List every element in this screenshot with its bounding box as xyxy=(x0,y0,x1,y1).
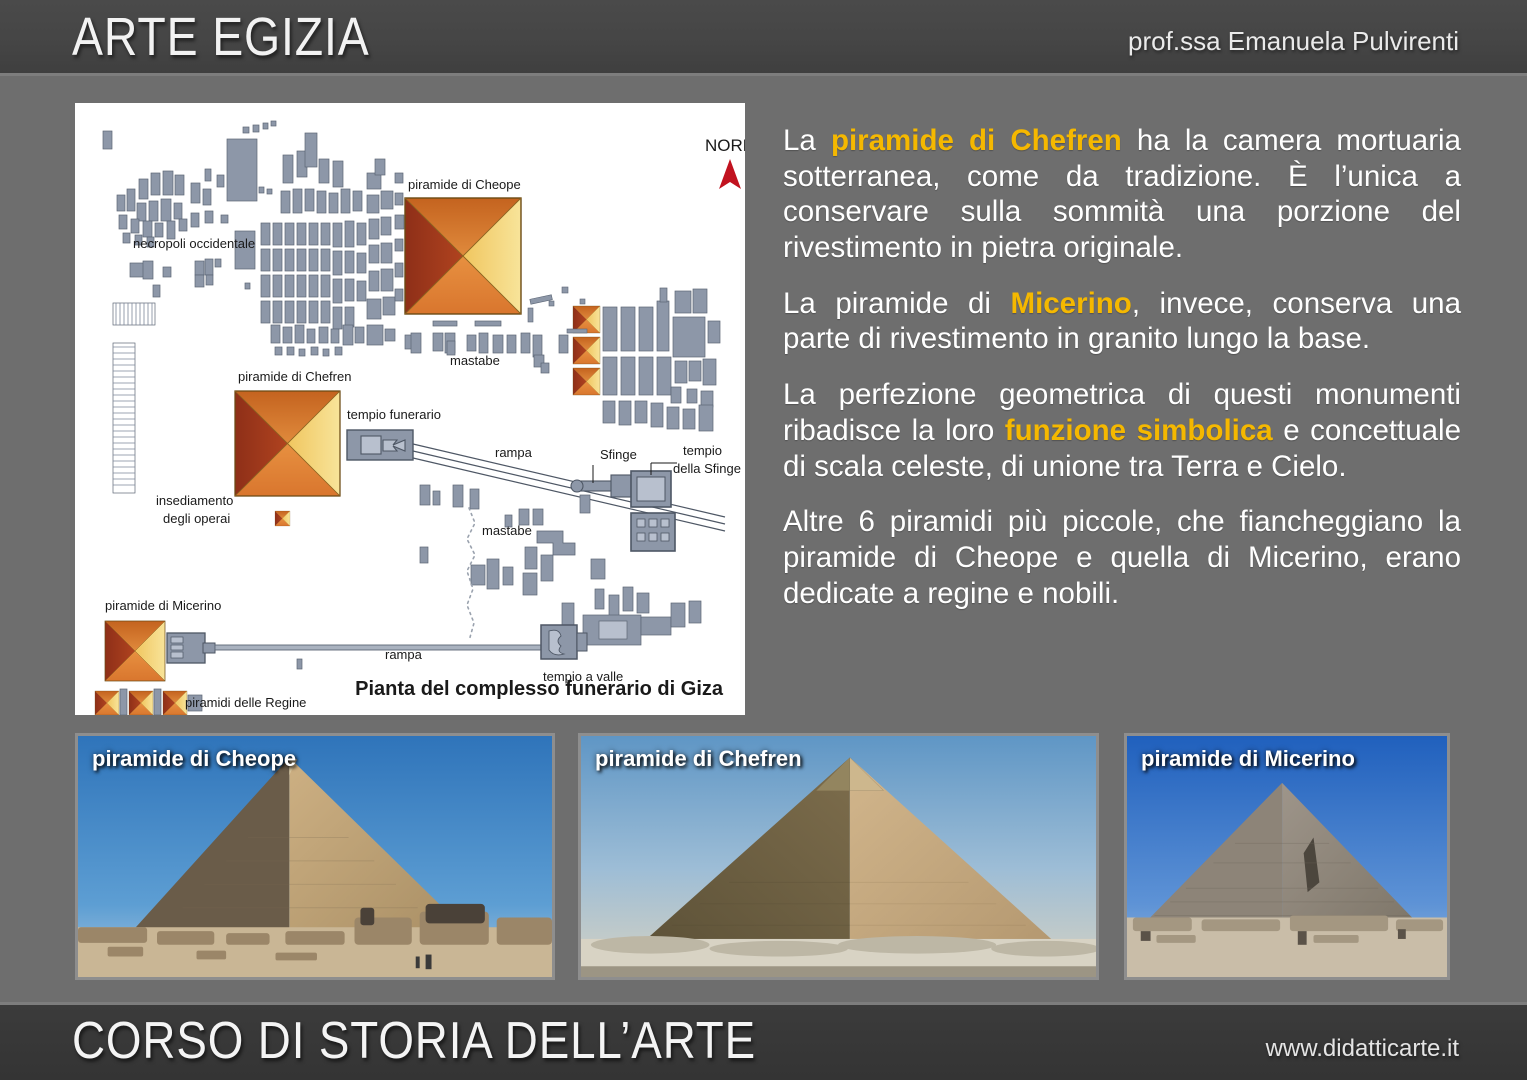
photo-cheope-graphic xyxy=(78,736,552,977)
author-credit: prof.ssa Emanuela Pulvirenti xyxy=(1128,26,1459,57)
highlight-term: funzione simbolica xyxy=(1005,414,1273,447)
paragraph-p4: Altre 6 piramidi più piccole, che fianch… xyxy=(783,504,1461,611)
map-label-insediamento: insediamento xyxy=(156,493,233,508)
description-text-column: La piramide di Chefren ha la camera mort… xyxy=(783,123,1461,611)
paragraph-p3: La perfezione geometrica di questi monum… xyxy=(783,377,1461,484)
map-label-chefren: piramide di Chefren xyxy=(238,369,351,384)
paragraph-p2: La piramide di Micerino, invece, conserv… xyxy=(783,286,1461,357)
map-label-tempio-sf2: della Sfinge xyxy=(673,461,741,476)
page-title: ARTE EGIZIA xyxy=(72,6,370,68)
website-url: www.didatticarte.it xyxy=(1266,1035,1459,1063)
tempio-funerario-chefren xyxy=(347,430,413,460)
map-label-sfinge: Sfinge xyxy=(600,447,637,462)
highlight-term: piramide di Chefren xyxy=(831,124,1122,157)
map-label-mastabe1: mastabe xyxy=(450,353,500,368)
paragraph-p1: La piramide di Chefren ha la camera mort… xyxy=(783,123,1461,266)
map-caption: Pianta del complesso funerario di Giza xyxy=(355,678,724,700)
photo-micerino-graphic xyxy=(1127,736,1447,977)
causeway-micerino xyxy=(215,645,543,650)
photo-chefren-graphic xyxy=(581,736,1096,977)
map-label-insediamento2: degli operai xyxy=(163,511,230,526)
map-label-tempio-sf1: tempio xyxy=(683,443,722,458)
pyramid-cheope-plan xyxy=(405,198,521,314)
map-label-tempio-fun: tempio funerario xyxy=(347,407,441,422)
slide-footer: CORSO DI STORIA DELL’ARTE www.didatticar… xyxy=(0,1002,1527,1080)
highlight-term: Micerino xyxy=(1011,287,1132,320)
map-label-necropoli: necropoli occidentale xyxy=(133,236,255,251)
map-label-rampa1: rampa xyxy=(495,445,533,460)
giza-site-plan: NORD necropoli occidentalepiramide di Ch… xyxy=(75,103,745,715)
site-plan-drawing: NORD necropoli occidentalepiramide di Ch… xyxy=(75,103,745,715)
map-label-cheope: piramide di Cheope xyxy=(408,177,521,192)
map-label-regine: piramidi delle Regine xyxy=(185,695,306,710)
map-label-micerino: piramide di Micerino xyxy=(105,598,221,613)
text-run: Altre 6 piramidi più piccole, che fianch… xyxy=(783,505,1461,609)
slide-header: ARTE EGIZIA prof.ssa Emanuela Pulvirenti xyxy=(0,0,1527,76)
map-label-mastabe2: mastabe xyxy=(482,523,532,538)
pyramid-micerino-plan xyxy=(105,621,165,681)
photo-piramide-chefren: piramide di Chefren xyxy=(578,733,1099,980)
text-run: La piramide di xyxy=(783,287,1011,320)
map-label-rampa2: rampa xyxy=(385,647,423,662)
course-title: CORSO DI STORIA DELL’ARTE xyxy=(72,1011,756,1071)
photo-piramide-cheope: piramide di Cheope xyxy=(75,733,555,980)
pyramid-chefren-plan xyxy=(235,391,340,496)
compass-label: NORD xyxy=(705,136,745,155)
chefren-satellite-pyramid xyxy=(275,511,290,526)
photo-piramide-micerino: piramide di Micerino xyxy=(1124,733,1450,980)
text-run: La xyxy=(783,124,831,157)
